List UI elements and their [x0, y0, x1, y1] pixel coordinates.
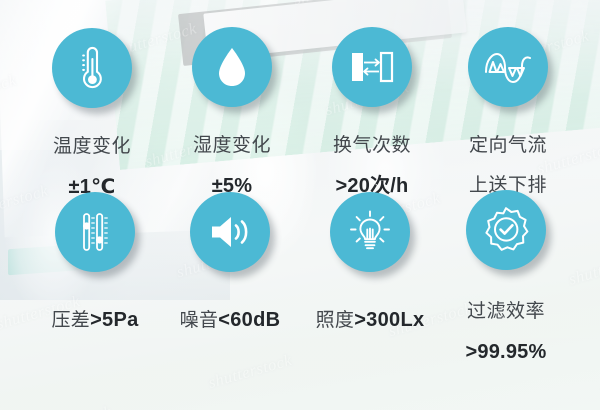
label-line1: 温度变化 [17, 136, 167, 158]
label-noise: 噪音<60dB [155, 290, 305, 350]
infographic-canvas: shutterstock shutterstock shutterstock s… [0, 0, 600, 410]
badge-air-change[interactable] [332, 27, 412, 107]
feature-item-directional-airflow[interactable]: 定向气流 上送下排 [433, 27, 583, 216]
badge-temperature[interactable] [52, 28, 132, 108]
speaker-icon [206, 212, 254, 252]
label-inline: 照度>300Lx [295, 309, 445, 332]
label-pressure: 压差>5Pa [20, 290, 170, 350]
badge-noise[interactable] [190, 192, 270, 272]
feature-item-temperature-variation[interactable]: 温度变化 ±1℃ [17, 28, 167, 218]
badge-illuminance[interactable] [330, 192, 410, 272]
label-line2: >99.95% [431, 341, 581, 364]
label-line1: 湿度变化 [157, 135, 307, 157]
badge-filtration[interactable] [466, 190, 546, 270]
label-illuminance: 照度>300Lx [295, 290, 445, 350]
airflow-wave-icon [483, 46, 533, 88]
feature-item-illuminance[interactable]: 照度>300Lx [295, 192, 445, 350]
badge-humidity[interactable] [192, 27, 272, 107]
pressure-slider-icon [73, 209, 117, 255]
feature-item-noise-level[interactable]: 噪音<60dB [155, 192, 305, 350]
thermometer-icon [70, 45, 114, 91]
badge-airflow[interactable] [468, 27, 548, 107]
label-line1: 过滤效率 [431, 301, 581, 323]
water-drop-icon [212, 44, 252, 90]
feature-item-pressure-difference[interactable]: 压差>5Pa [20, 192, 170, 350]
lightbulb-icon [346, 208, 394, 256]
feature-item-air-change-rate[interactable]: 换气次数 >20次/h [297, 27, 447, 217]
feature-grid: 温度变化 ±1℃ 湿度变化 ±5% [0, 0, 600, 410]
label-inline: 压差>5Pa [20, 309, 170, 332]
label-line1: 定向气流 [433, 135, 583, 157]
label-inline: 噪音<60dB [155, 309, 305, 332]
air-exchange-icon [347, 45, 397, 89]
label-line1: 换气次数 [297, 135, 447, 157]
feature-item-humidity-variation[interactable]: 湿度变化 ±5% [157, 27, 307, 217]
filter-badge-icon [481, 205, 531, 255]
feature-item-filtration-efficiency[interactable]: 过滤效率 >99.95% [431, 190, 581, 383]
badge-pressure[interactable] [55, 192, 135, 272]
label-filtration: 过滤效率 >99.95% [431, 282, 581, 383]
